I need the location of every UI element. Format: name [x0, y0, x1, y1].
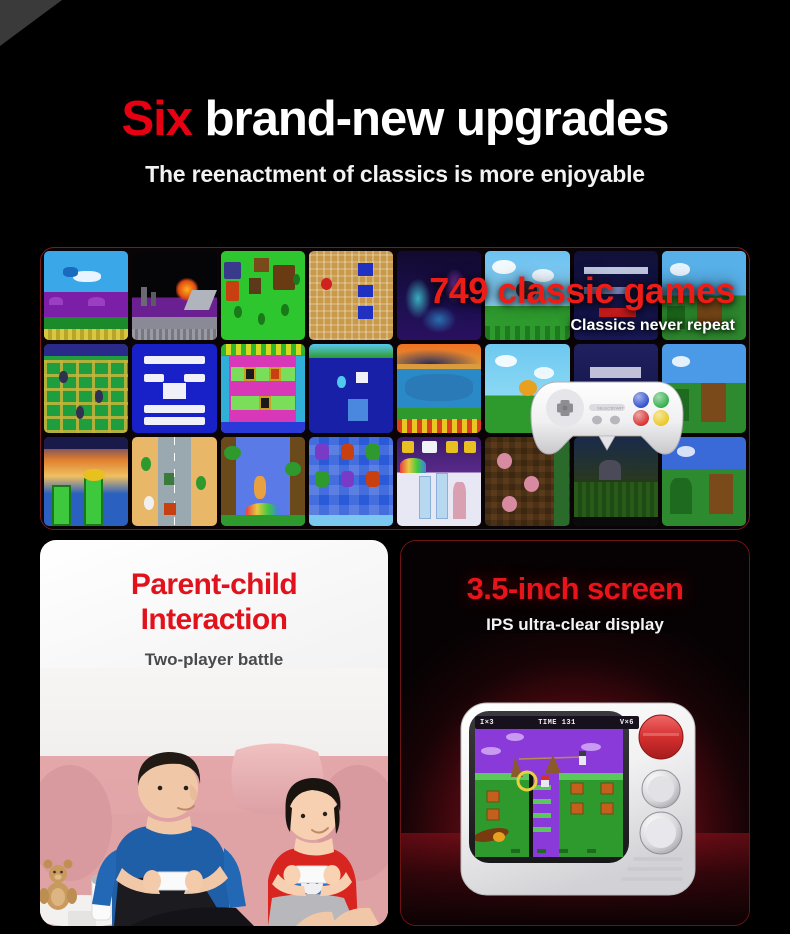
hud-time: TIME 131	[538, 719, 576, 727]
game-thumbnail	[132, 344, 216, 433]
parent-child-subtitle: Two-player battle	[40, 650, 388, 670]
parent-child-title-line1: Parent-child	[131, 568, 297, 601]
game-thumbnail	[132, 251, 216, 340]
game-thumbnail	[44, 344, 128, 433]
game-thumbnail	[221, 344, 305, 433]
screen-spec-panel: 3.5-inch screen IPS ultra-clear display	[400, 540, 750, 926]
family-gaming-photo	[40, 668, 388, 926]
game-thumbnail	[397, 437, 481, 526]
hud-lives: I×3	[480, 719, 494, 727]
title-accent: Six	[121, 92, 192, 146]
game-thumbnail	[309, 437, 393, 526]
page-subtitle: The reenactment of classics is more enjo…	[0, 161, 790, 188]
game-thumbnail	[44, 251, 128, 340]
game-thumbnail	[397, 251, 481, 340]
page-header: Six brand-new upgrades The reenactment o…	[0, 92, 790, 188]
game-thumbnail	[397, 344, 481, 433]
screen-spec-title: 3.5-inch screen	[401, 571, 749, 607]
game-thumbnail	[485, 251, 569, 340]
game-thumbnail	[309, 344, 393, 433]
retro-tv-handheld: I×3 TIME 131 V×6	[459, 699, 697, 899]
parent-child-title: Parent-child Interaction	[40, 568, 388, 638]
screen-spec-subtitle: IPS ultra-clear display	[401, 615, 749, 635]
svg-text:START: START	[611, 405, 624, 410]
game-thumbnail	[44, 437, 128, 526]
retro-gamepad-icon: SELECT START	[527, 366, 687, 462]
corner-notch	[0, 0, 62, 46]
game-thumbnail	[309, 251, 393, 340]
page-title: Six brand-new upgrades	[0, 92, 790, 147]
parent-child-title-line2: Interaction	[141, 603, 288, 636]
game-thumbnail	[132, 437, 216, 526]
game-hud: I×3 TIME 131 V×6	[475, 716, 639, 729]
game-screen	[475, 717, 623, 857]
hud-coins: V×6	[620, 719, 634, 727]
game-thumbnail	[574, 251, 658, 340]
title-rest: brand-new upgrades	[192, 92, 669, 146]
game-thumbnail	[662, 251, 746, 340]
game-thumbnail	[221, 251, 305, 340]
game-thumbnail	[221, 437, 305, 526]
parent-child-panel: Parent-child Interaction Two-player batt…	[40, 540, 388, 926]
